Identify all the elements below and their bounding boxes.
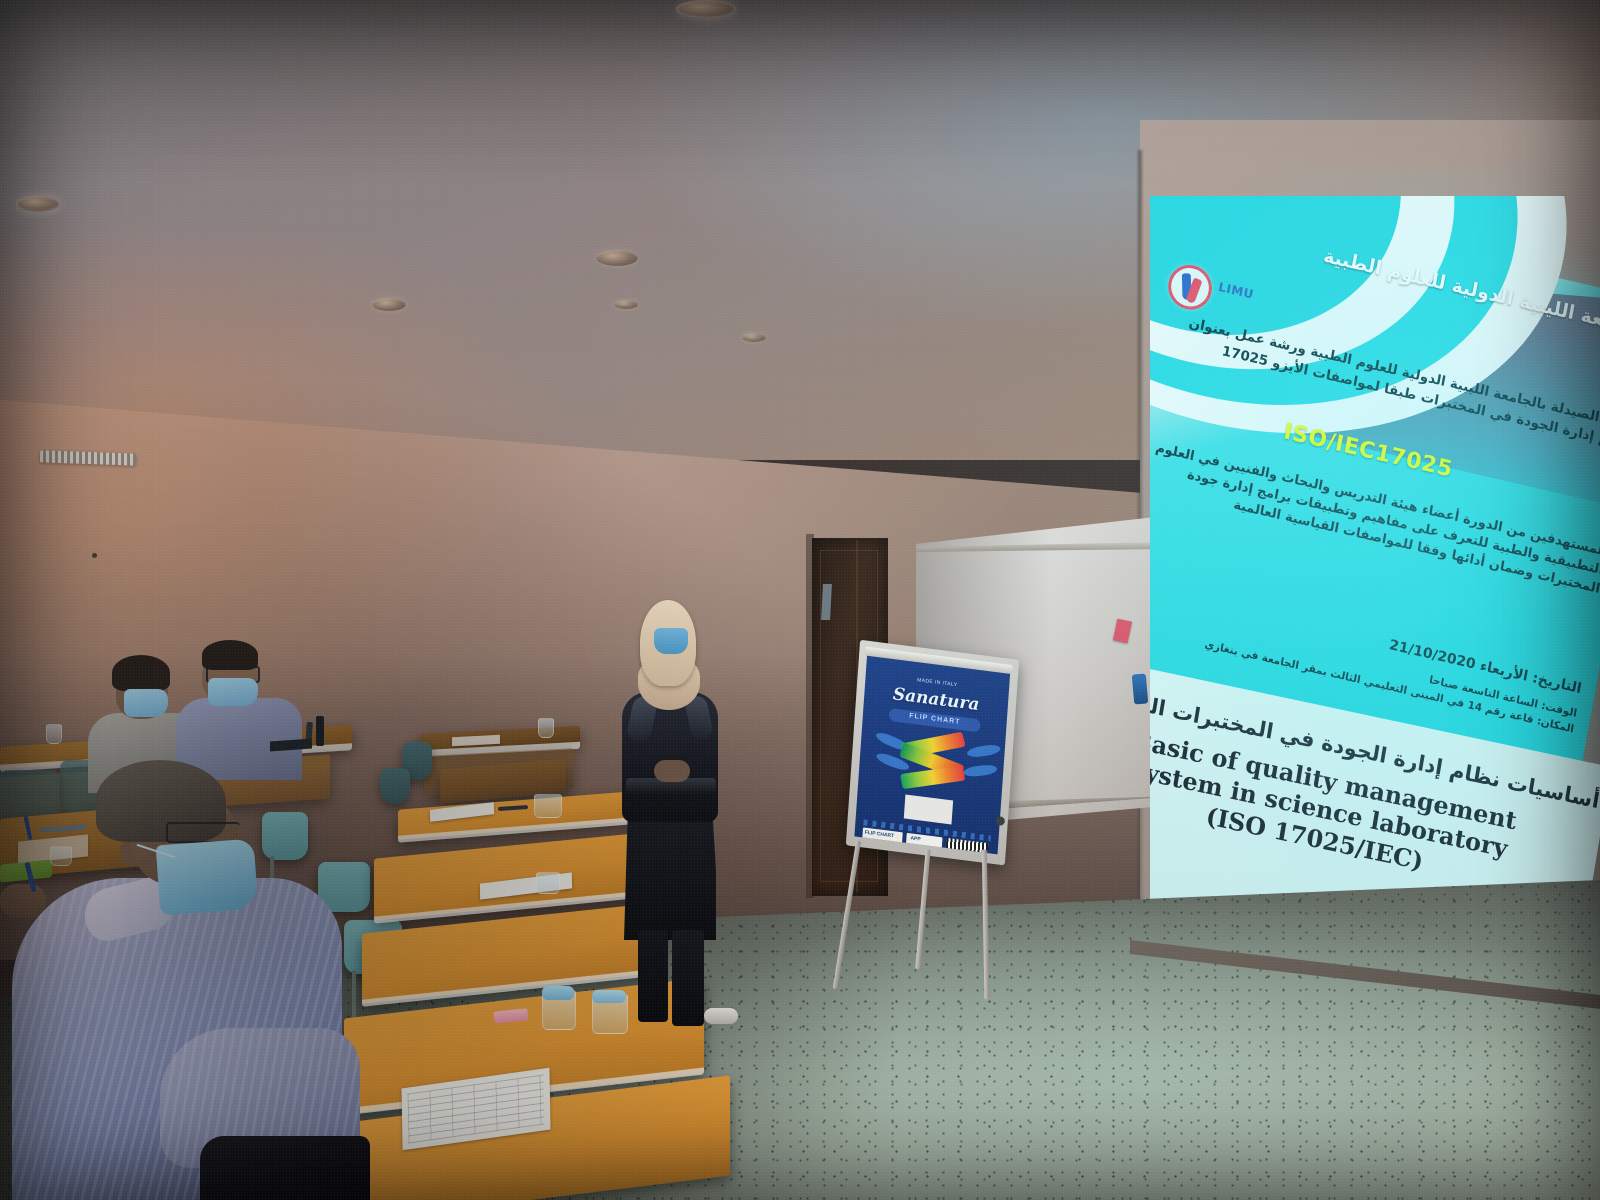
wall-screw bbox=[92, 553, 97, 558]
marker-pen[interactable] bbox=[1132, 673, 1149, 704]
photo-scene: LIMU الجامعة الليبية الدولية للعلوم الطب… bbox=[0, 0, 1600, 1200]
ceiling-downlight-6 bbox=[742, 333, 766, 342]
presenter-leg-right bbox=[672, 930, 704, 1026]
water-glass-4[interactable] bbox=[536, 872, 560, 894]
ceiling-downlight-1 bbox=[16, 196, 60, 212]
flipchart-wing-4 bbox=[963, 764, 998, 778]
face-mask-icon bbox=[208, 678, 258, 706]
flipchart-chevron-3 bbox=[900, 765, 965, 789]
water-glass-2[interactable] bbox=[46, 724, 62, 744]
attendee-front-lap bbox=[200, 1136, 370, 1200]
ceiling-downlight-4 bbox=[614, 300, 638, 309]
flipchart-badge-2-label: APP bbox=[910, 835, 921, 842]
door-window bbox=[821, 584, 832, 620]
slide-title-english: Basic of quality management system in sc… bbox=[1150, 708, 1600, 911]
attendee-front bbox=[0, 760, 360, 1200]
mask-on-glass-1 bbox=[542, 986, 574, 1000]
presentation-slide: LIMU الجامعة الليبية الدولية للعلوم الطب… bbox=[1150, 196, 1600, 956]
water-glass-3[interactable] bbox=[534, 794, 562, 818]
attendee-hand bbox=[0, 884, 46, 918]
presenter-shoe bbox=[704, 1008, 738, 1024]
flipchart-wing-3 bbox=[966, 743, 1001, 758]
chair-back-2[interactable] bbox=[380, 768, 410, 804]
flipchart-white-panel bbox=[904, 794, 953, 824]
flipchart-easel[interactable]: MADE IN ITALY Sanatura FLIP CHART FLIP C… bbox=[845, 644, 1032, 873]
bottle-on-desk[interactable] bbox=[316, 716, 324, 746]
attendee-back-left-hair bbox=[112, 655, 170, 691]
easel-board: MADE IN ITALY Sanatura FLIP CHART FLIP C… bbox=[846, 640, 1019, 866]
face-mask-icon bbox=[654, 628, 688, 654]
ceiling-downlight-3 bbox=[596, 250, 638, 266]
flipchart-pad: MADE IN ITALY Sanatura FLIP CHART FLIP C… bbox=[854, 655, 1010, 855]
face-mask-icon bbox=[156, 839, 259, 916]
water-glass-1[interactable] bbox=[538, 718, 554, 738]
presenter-leg-left bbox=[638, 930, 668, 1022]
face-mask-icon bbox=[124, 689, 168, 717]
ceiling-downlight-2 bbox=[372, 298, 406, 311]
ceiling-downlight-5 bbox=[676, 0, 736, 18]
presenter-abaya bbox=[624, 804, 716, 940]
projection-screen: LIMU الجامعة الليبية الدولية للعلوم الطب… bbox=[1150, 196, 1600, 956]
presenter-hands bbox=[654, 760, 690, 782]
presenter bbox=[596, 600, 746, 1030]
